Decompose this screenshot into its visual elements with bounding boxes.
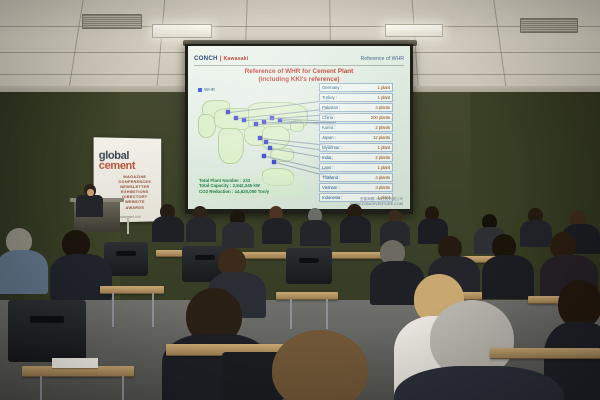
table-row: Laos : 1 plant xyxy=(319,163,393,172)
desk-leg xyxy=(40,376,42,400)
ceiling-light-right xyxy=(385,24,443,37)
table-row: India : 2 plants xyxy=(319,153,393,162)
plant-count: 1 plant xyxy=(378,85,390,90)
ceiling-vent-left xyxy=(82,14,142,29)
plant-count: 2 plants xyxy=(375,155,390,160)
country-name: Thailand : xyxy=(322,175,340,180)
presenter-face xyxy=(87,189,94,196)
slide-summary-stats: Total Plant Number : 233 Total Capacity … xyxy=(197,176,305,196)
country-name: Vietnam : xyxy=(322,185,340,190)
ceiling-light-left xyxy=(152,24,212,38)
country-name: Korea : xyxy=(322,125,335,130)
country-name: Pakistan : xyxy=(322,105,340,110)
conch-kawasaki-logo: CONCH | Kawasaki xyxy=(194,55,248,62)
ceiling-vent-right xyxy=(520,18,578,33)
conference-room-photo: CONCH | Kawasaki Reference of WHR Refere… xyxy=(0,0,600,400)
projection-screen: CONCH | Kawasaki Reference of WHR Refere… xyxy=(188,46,410,209)
table-row: Pakistan : 4 plants xyxy=(319,103,393,112)
desk-leg xyxy=(290,299,292,329)
plant-count: 1 plant xyxy=(378,95,390,100)
presentation-slide: CONCH | Kawasaki Reference of WHR Refere… xyxy=(188,46,410,209)
country-name: Japan : xyxy=(322,135,336,140)
slide-title-line1: Reference of WHR for Cement Plant xyxy=(188,68,410,76)
country-name: Myanmar : xyxy=(322,145,342,150)
table-row: Japan : 12 plants xyxy=(319,133,393,142)
plant-count: 200 plants xyxy=(371,115,390,120)
map-pin xyxy=(254,122,258,126)
country-plant-table: Germany : 1 plant Turkey : 1 plant Pakis… xyxy=(319,83,393,203)
tablet-desk xyxy=(276,292,338,300)
stat-co2-reduction: CO2 Reduction : 14,620,000 Ton/y xyxy=(199,189,303,195)
plant-count: 4 plants xyxy=(375,175,390,180)
brand-kawasaki: Kawasaki xyxy=(224,56,249,62)
country-name: Turkey : xyxy=(322,95,337,100)
plant-count: 12 plants xyxy=(373,135,390,140)
desk-leg xyxy=(112,293,114,327)
plant-count: 4 plants xyxy=(375,105,390,110)
country-name: Indonesia : xyxy=(322,195,342,200)
table-row: Thailand : 4 plants xyxy=(319,173,393,182)
banner-stand xyxy=(127,218,129,234)
desk-leg xyxy=(152,293,154,327)
table-row: Myanmar : 1 plant xyxy=(319,143,393,152)
legend-marker-icon xyxy=(198,88,202,92)
plant-count: 1 plant xyxy=(378,145,390,150)
country-name: China : xyxy=(322,115,335,120)
slide-header: CONCH | Kawasaki Reference of WHR xyxy=(194,52,404,66)
banner-word-cement: cement xyxy=(99,161,135,172)
tablet-desk xyxy=(330,252,384,259)
slide-title: Reference of WHR for Cement Plant (inclu… xyxy=(188,68,410,84)
desk-leg xyxy=(122,376,124,400)
plant-count: 3 plants xyxy=(375,185,390,190)
presenter-body xyxy=(76,195,103,217)
brand-separator: | xyxy=(220,55,222,62)
chair-back xyxy=(8,300,86,362)
country-name: Germany : xyxy=(322,85,342,90)
table-row: Korea : 2 plants xyxy=(319,123,393,132)
plant-count: 1 plant xyxy=(378,165,390,170)
table-row: Germany : 1 plant xyxy=(319,83,393,92)
country-name: Laos : xyxy=(322,165,333,170)
country-name: India : xyxy=(322,155,333,160)
plant-count: 2 plants xyxy=(375,125,390,130)
handout-paper xyxy=(52,358,98,368)
tablet-desk xyxy=(100,286,164,294)
table-row: China : 200 plants xyxy=(319,113,393,122)
desk-leg xyxy=(326,299,328,329)
table-row: Vietnam : 3 plants xyxy=(319,183,393,192)
brand-conch: CONCH xyxy=(194,55,218,62)
tablet-desk xyxy=(490,348,600,359)
table-row: Turkey : 1 plant xyxy=(319,93,393,102)
chair-back xyxy=(286,248,332,284)
slide-header-right: Reference of WHR xyxy=(360,56,404,62)
world-map xyxy=(196,92,314,188)
